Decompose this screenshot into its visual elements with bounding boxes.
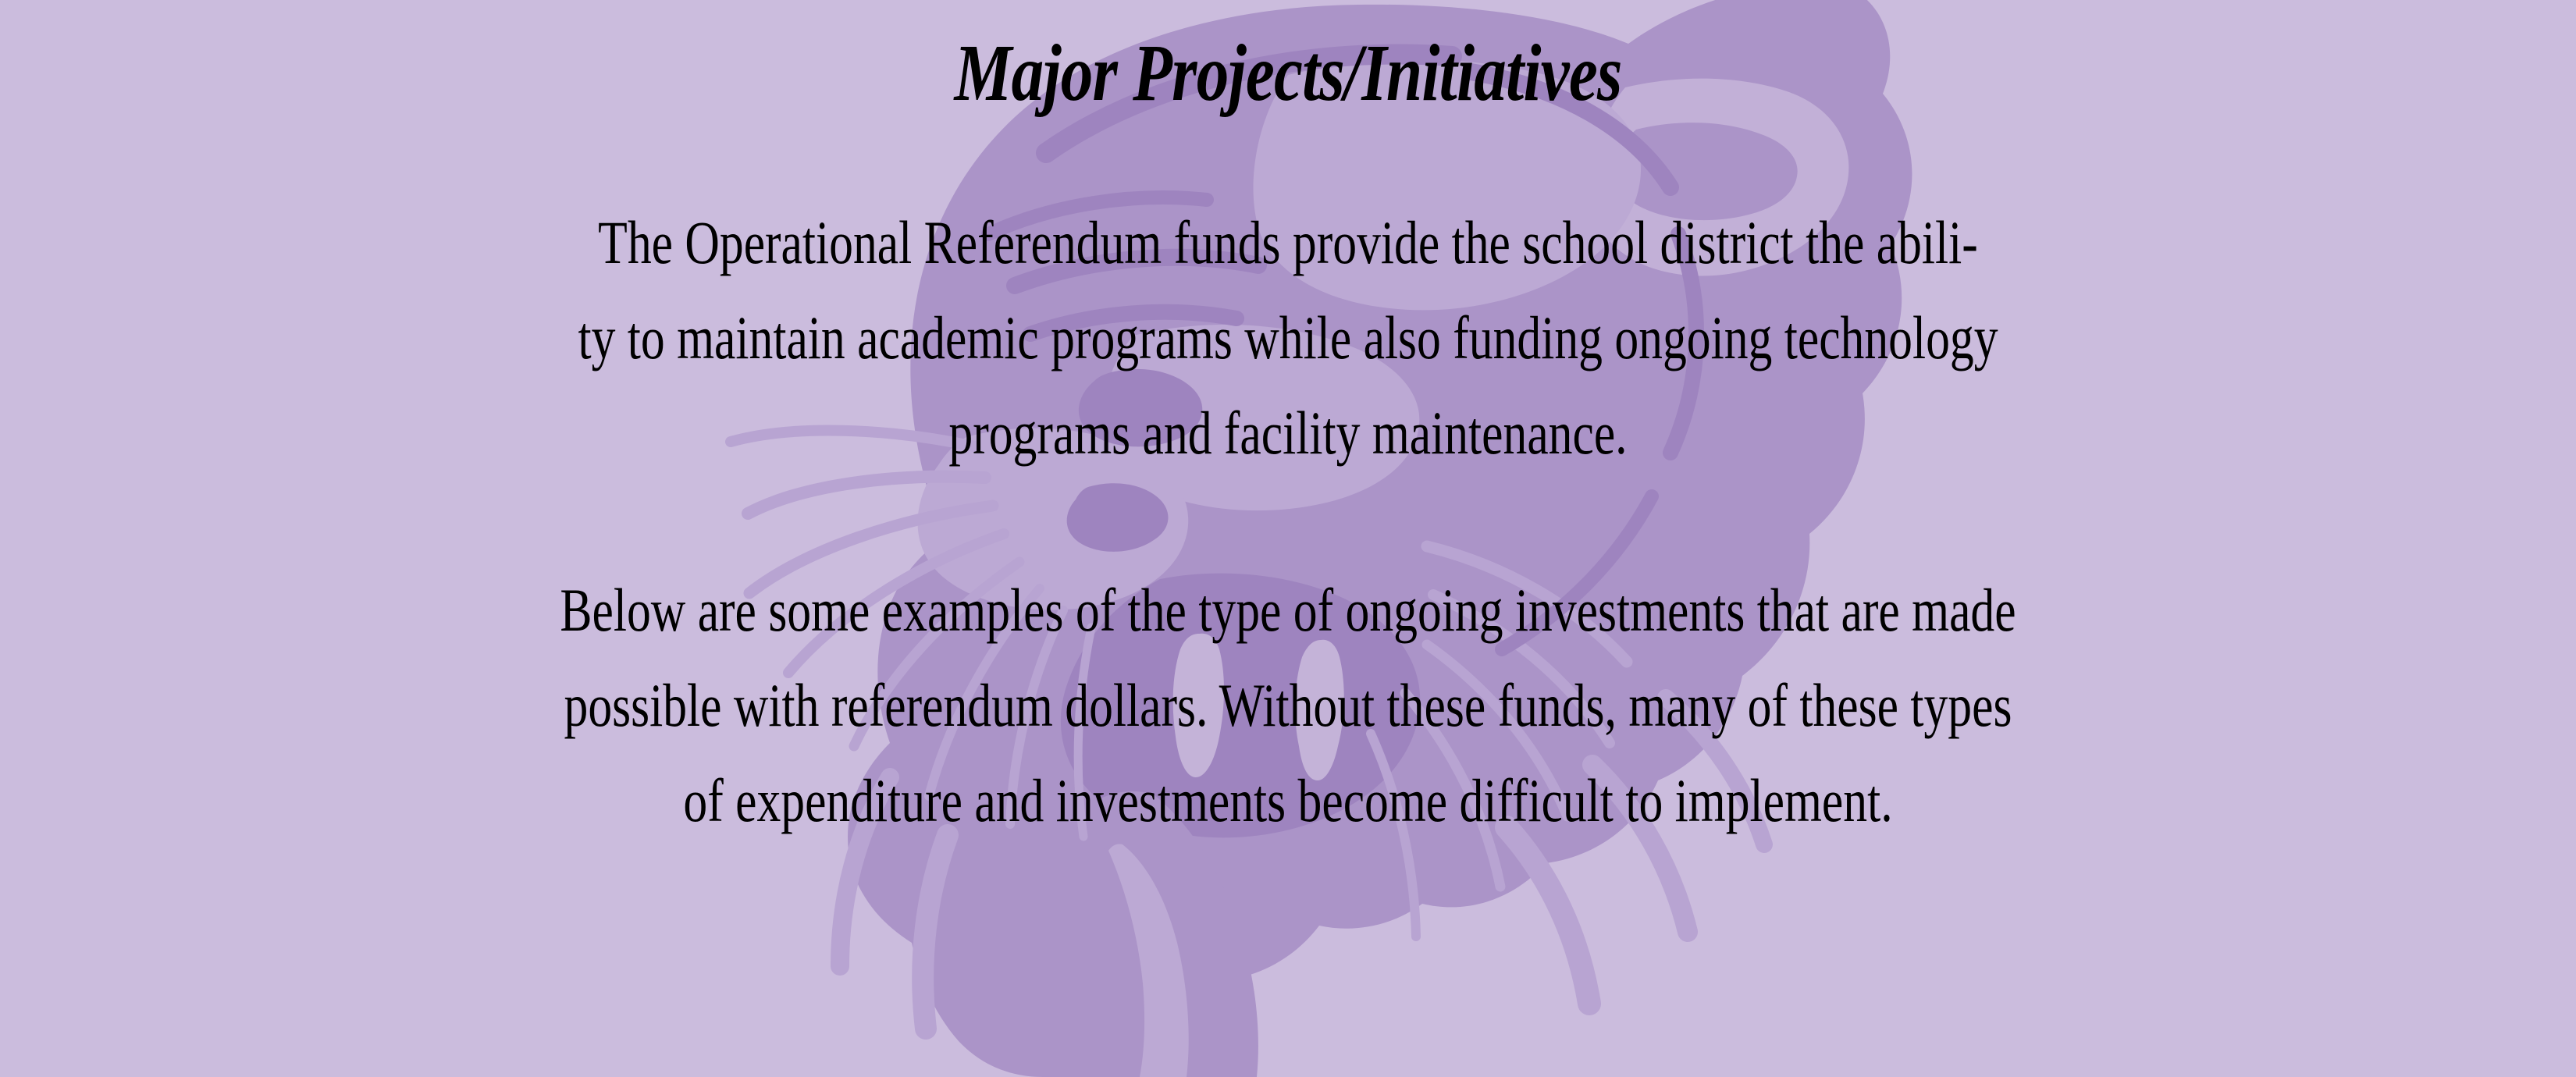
slide-content: Major Projects/Initiatives The Operation… xyxy=(0,0,2576,1077)
paragraph-line: Below are some examples of the type of o… xyxy=(271,563,2306,658)
intro-paragraph: The Operational Referendum funds provide… xyxy=(271,117,2306,481)
paragraph-line: The Operational Referendum funds provide… xyxy=(271,195,2306,290)
paragraph-line: possible with referendum dollars. Withou… xyxy=(271,658,2306,753)
paragraph-line: ty to maintain academic programs while a… xyxy=(271,290,2306,386)
examples-paragraph: Below are some examples of the type of o… xyxy=(271,481,2306,848)
slide-canvas: Major Projects/Initiatives The Operation… xyxy=(0,0,2576,1077)
page-title: Major Projects/Initiatives xyxy=(258,0,2318,117)
paragraph-line: of expenditure and investments become di… xyxy=(271,753,2306,848)
paragraph-line: programs and facility maintenance. xyxy=(271,386,2306,481)
